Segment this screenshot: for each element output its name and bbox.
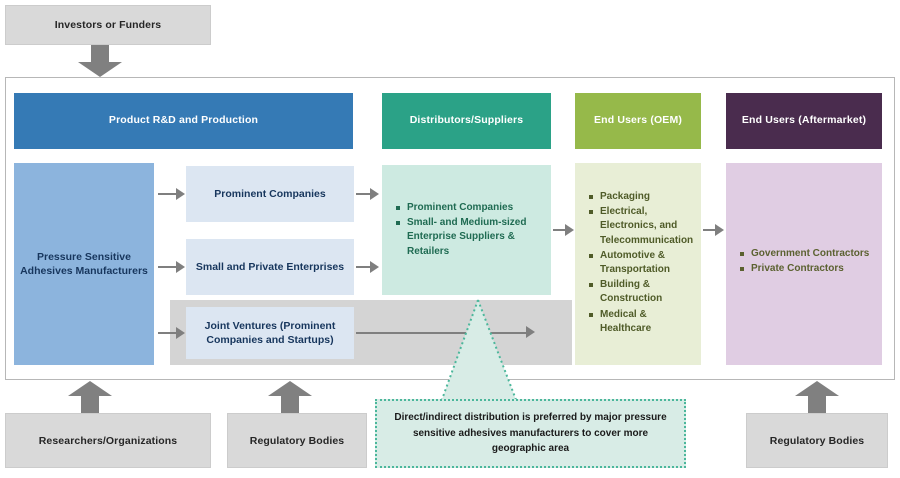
callout-direct-indirect-distribution: Direct/indirect distribution is preferre… bbox=[375, 399, 686, 468]
list-item: Packaging bbox=[589, 190, 693, 204]
arrow-regulatory-bodies-right-up bbox=[795, 381, 839, 413]
column-header-label: Distributors/Suppliers bbox=[410, 114, 524, 127]
stakeholder-regulatory-bodies-left[interactable]: Regulatory Bodies bbox=[227, 413, 367, 468]
oem-item-list: Packaging Electrical, Electronics, and T… bbox=[589, 190, 693, 336]
callout-pointer bbox=[440, 300, 560, 410]
distributor-item-list: Prominent Companies Small- and Medium-si… bbox=[396, 201, 539, 259]
list-item: Prominent Companies bbox=[396, 201, 539, 215]
column-header-end-users-aftermarket: End Users (Aftermarket) bbox=[726, 93, 882, 149]
column-header-label: End Users (OEM) bbox=[594, 114, 682, 127]
panel-end-users-aftermarket: Government Contractors Private Contracto… bbox=[726, 163, 882, 365]
node-pressure-sensitive-adhesives-manufacturers[interactable]: Pressure Sensitive Adhesives Manufacture… bbox=[14, 163, 154, 365]
node-prominent-companies[interactable]: Prominent Companies bbox=[186, 166, 354, 222]
list-item: Electrical, Electronics, and Telecommuni… bbox=[589, 205, 693, 248]
node-label: Pressure Sensitive Adhesives Manufacture… bbox=[14, 250, 154, 278]
panel-end-users-oem: Packaging Electrical, Electronics, and T… bbox=[575, 163, 701, 365]
stakeholder-label: Regulatory Bodies bbox=[250, 435, 344, 447]
list-item: Government Contractors bbox=[740, 247, 874, 261]
column-header-product-rnd: Product R&D and Production bbox=[14, 93, 353, 149]
node-small-and-private-enterprises[interactable]: Small and Private Enterprises bbox=[186, 239, 354, 295]
node-label: Prominent Companies bbox=[214, 187, 325, 201]
list-item: Medical & Healthcare bbox=[589, 308, 693, 336]
arrow-researchers-up bbox=[68, 381, 112, 413]
arrow-regulatory-bodies-left-up bbox=[268, 381, 312, 413]
aftermarket-item-list: Government Contractors Private Contracto… bbox=[740, 247, 874, 276]
column-header-end-users-oem: End Users (OEM) bbox=[575, 93, 701, 149]
stakeholder-investors-or-funders[interactable]: Investors or Funders bbox=[5, 5, 211, 45]
stakeholder-label: Regulatory Bodies bbox=[770, 435, 864, 447]
arrow-investors-down bbox=[78, 45, 122, 77]
list-item: Small- and Medium-sized Enterprise Suppl… bbox=[396, 216, 539, 259]
value-chain-diagram: Investors or Funders Product R&D and Pro… bbox=[0, 0, 900, 478]
stakeholder-regulatory-bodies-right[interactable]: Regulatory Bodies bbox=[746, 413, 888, 468]
node-label: Small and Private Enterprises bbox=[196, 260, 344, 274]
column-header-distributors: Distributors/Suppliers bbox=[382, 93, 551, 149]
column-header-label: Product R&D and Production bbox=[109, 114, 258, 127]
list-item: Building & Construction bbox=[589, 278, 693, 306]
list-item: Automotive & Transportation bbox=[589, 249, 693, 277]
column-header-label: End Users (Aftermarket) bbox=[742, 114, 866, 127]
stakeholder-label: Researchers/Organizations bbox=[39, 435, 177, 447]
panel-distributors-suppliers: Prominent Companies Small- and Medium-si… bbox=[382, 165, 551, 295]
node-joint-ventures[interactable]: Joint Ventures (Prominent Companies and … bbox=[186, 307, 354, 359]
node-label: Joint Ventures (Prominent Companies and … bbox=[194, 319, 346, 347]
callout-text: Direct/indirect distribution is preferre… bbox=[391, 410, 670, 457]
list-item: Private Contractors bbox=[740, 262, 874, 276]
stakeholder-researchers-organizations[interactable]: Researchers/Organizations bbox=[5, 413, 211, 468]
stakeholder-label: Investors or Funders bbox=[55, 19, 161, 31]
